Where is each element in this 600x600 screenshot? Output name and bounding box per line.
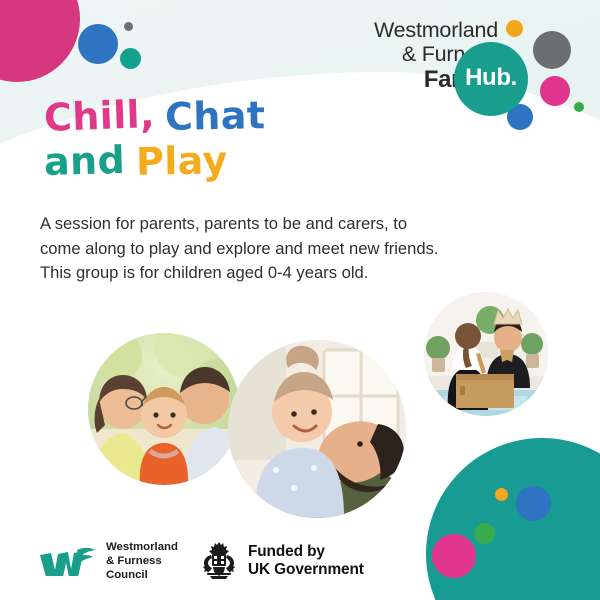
decorative-dot-teal-top-left <box>120 48 141 69</box>
decorative-circle-pink-bottom-right <box>432 534 476 578</box>
title-word-play: Play <box>136 140 228 183</box>
council-wf-mark-icon <box>38 546 96 576</box>
decorative-circle-blue-top-left <box>78 24 118 64</box>
hub-badge-label: Hub. <box>465 64 517 92</box>
page-title: Chill,Chat andPlay <box>44 96 464 182</box>
photo-cardboard-box-play-art <box>424 292 548 416</box>
logo-dot-green <box>574 102 584 112</box>
hub-badge: Hub. <box>454 42 528 116</box>
brand-logo-line-1: Westmorland <box>330 18 498 42</box>
decorative-dot-yellow-bottom-right <box>495 488 508 501</box>
photo-family-outdoors-art <box>88 333 240 485</box>
poster-canvas: Westmorland & Furness Family Hub. Chill,… <box>0 0 600 600</box>
decorative-dot-grey-top-left <box>124 22 133 31</box>
council-logo-line-1: Westmorland <box>106 540 178 554</box>
council-logo-line-2: & Furness <box>106 554 178 568</box>
photo-father-and-toddler-art <box>228 340 406 518</box>
description-text: A session for parents, parents to be and… <box>40 212 440 286</box>
royal-coat-of-arms-icon <box>200 541 238 581</box>
government-logo-text: Funded by UK Government <box>248 543 364 579</box>
council-logo-text: Westmorland & Furness Council <box>106 540 178 582</box>
council-logo: Westmorland & Furness Council <box>38 540 178 582</box>
photo-father-and-toddler <box>228 340 406 518</box>
title-word-chill: Chill, <box>43 94 155 139</box>
council-logo-line-3: Council <box>106 568 178 582</box>
title-word-and: and <box>43 140 125 183</box>
photo-family-outdoors <box>88 333 240 485</box>
logo-dot-pink <box>540 76 570 106</box>
footer-logos: Westmorland & Furness Council <box>38 536 364 586</box>
government-logo-line-1: Funded by <box>248 543 364 561</box>
photo-cardboard-box-play <box>424 292 548 416</box>
government-logo-line-2: UK Government <box>248 561 364 579</box>
title-word-chat: Chat <box>165 95 266 138</box>
logo-dot-grey <box>533 31 571 69</box>
government-funding-logo: Funded by UK Government <box>200 541 364 581</box>
decorative-circle-blue-bottom-right <box>516 486 551 521</box>
logo-dot-yellow <box>506 20 523 37</box>
decorative-dot-green-bottom-right <box>474 523 495 544</box>
